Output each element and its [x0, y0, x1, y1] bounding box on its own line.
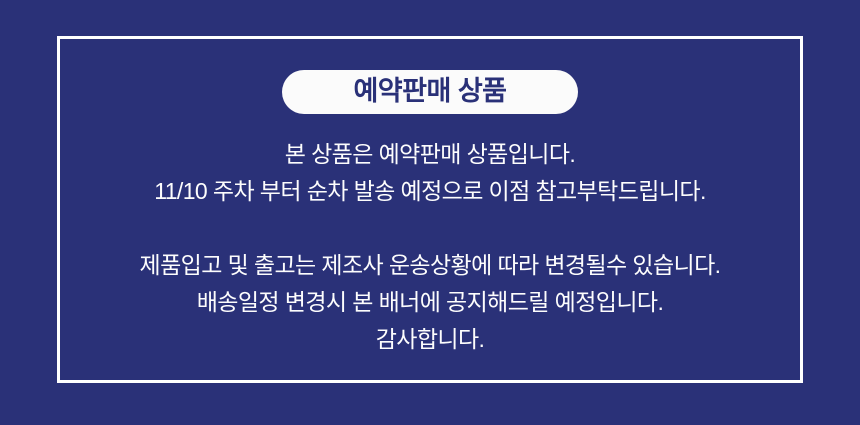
- notice-line-2: 11/10 주차 부터 순차 발송 예정으로 이점 참고부탁드립니다.: [0, 173, 860, 210]
- notice-line-5: 감사합니다.: [0, 321, 860, 358]
- notice-line-1: 본 상품은 예약판매 상품입니다.: [0, 136, 860, 173]
- banner-badge-container: 예약판매 상품: [0, 70, 860, 114]
- notice-line-4: 배송일정 변경시 본 배너에 공지해드릴 예정입니다.: [0, 284, 860, 321]
- preorder-badge-label: 예약판매 상품: [316, 76, 544, 106]
- preorder-notice-banner: 예약판매 상품 본 상품은 예약판매 상품입니다. 11/10 주차 부터 순차…: [0, 0, 860, 425]
- banner-body-copy: 본 상품은 예약판매 상품입니다. 11/10 주차 부터 순차 발송 예정으로…: [0, 136, 860, 358]
- paragraph-spacer: [0, 210, 860, 247]
- notice-line-3: 제품입고 및 출고는 제조사 운송상황에 따라 변경될수 있습니다.: [0, 247, 860, 284]
- preorder-badge: 예약판매 상품: [282, 70, 578, 114]
